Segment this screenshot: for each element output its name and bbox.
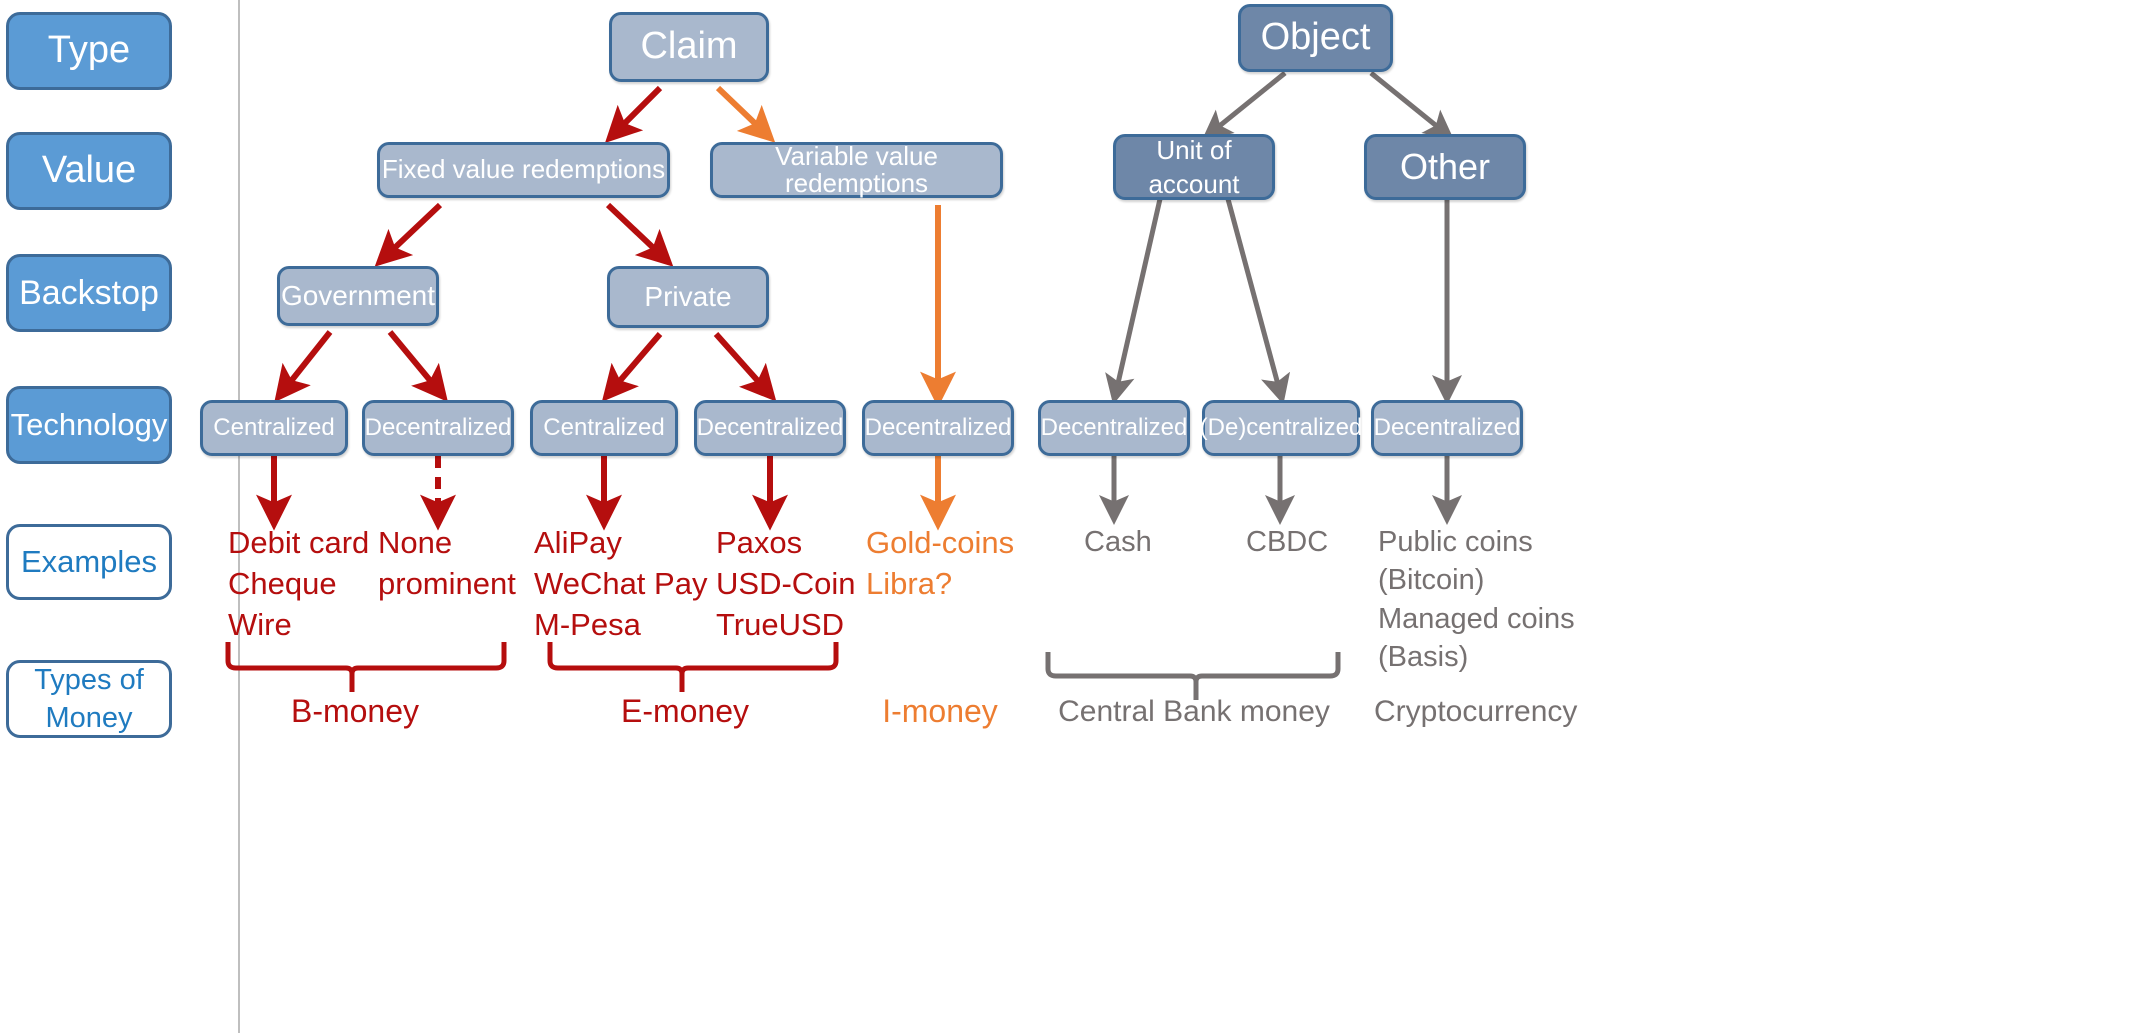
node-object-label: Object (1261, 18, 1371, 58)
row-label-type-text: Type (48, 30, 130, 71)
arrow-object-to-unit-of-account (1212, 73, 1285, 132)
examples-cash: Cash (1084, 523, 1224, 561)
diagram-canvas: Type Value Backstop Technology Examples … (0, 0, 2145, 1033)
node-private[interactable]: Private (607, 266, 769, 328)
row-label-backstop: Backstop (6, 254, 172, 332)
examples-cbdc: CBDC (1246, 523, 1386, 561)
row-label-value-text: Value (42, 150, 136, 191)
examples-b-money-decentralized: None prominent (378, 523, 558, 605)
node-tech-other-decentralized[interactable]: Decentralized (1371, 400, 1523, 456)
examples-e-money-centralized: AliPay WeChat Pay M-Pesa (534, 523, 724, 646)
left-column-divider (238, 0, 240, 1033)
node-variable-value-redemptions[interactable]: Variable value redemptions (710, 142, 1003, 198)
examples-i-money: Gold-coins Libra? (866, 523, 1056, 605)
node-government-label: Government (281, 281, 435, 310)
node-claim[interactable]: Claim (609, 12, 769, 82)
node-claim-label: Claim (640, 27, 737, 67)
node-tech-uoa-de-centralized-label: (De)centralized (1200, 415, 1363, 440)
arrow-uoa-to-decentralized (1116, 199, 1160, 392)
row-label-backstop-text: Backstop (19, 275, 159, 312)
brace-b-money (228, 642, 504, 692)
node-unit-of-account-label: Unit of account (1148, 133, 1239, 202)
money-type-central-bank-money: Central Bank money (1044, 692, 1344, 732)
node-object[interactable]: Object (1238, 4, 1393, 72)
arrow-claim-to-variable-value (718, 88, 764, 132)
row-label-examples-text: Examples (21, 545, 157, 578)
node-tech-private-decentralized-label: Decentralized (697, 415, 844, 440)
row-label-technology: Technology (6, 386, 172, 464)
row-label-examples: Examples (6, 524, 172, 600)
node-other-label: Other (1400, 148, 1490, 186)
money-type-e-money: E-money (556, 690, 814, 732)
node-tech-uoa-decentralized-label: Decentralized (1041, 415, 1188, 440)
row-label-types-of-money: Types of Money (6, 660, 172, 738)
node-tech-private-centralized[interactable]: Centralized (530, 400, 678, 456)
node-private-label: Private (644, 282, 731, 311)
node-tech-government-decentralized-label: Decentralized (365, 415, 512, 440)
row-label-value: Value (6, 132, 172, 210)
arrow-government-to-centralized (284, 332, 330, 390)
node-tech-private-centralized-label: Centralized (543, 415, 664, 440)
node-unit-of-account[interactable]: Unit of account (1113, 134, 1275, 200)
brace-e-money (550, 642, 836, 692)
node-tech-uoa-de-centralized[interactable]: (De)centralized (1202, 400, 1360, 456)
arrow-government-to-decentralized (390, 332, 438, 390)
row-label-type: Type (6, 12, 172, 90)
arrow-fixed-to-government (386, 205, 440, 256)
connector-layer (0, 0, 2145, 1033)
node-tech-other-decentralized-label: Decentralized (1374, 415, 1521, 440)
node-fixed-value-redemptions-label: Fixed value redemptions (382, 156, 665, 183)
node-tech-uoa-decentralized[interactable]: Decentralized (1038, 400, 1190, 456)
node-fixed-value-redemptions[interactable]: Fixed value redemptions (377, 142, 670, 198)
node-variable-value-redemptions-label: Variable value redemptions (713, 143, 1000, 198)
node-tech-variable-decentralized-label: Decentralized (865, 415, 1012, 440)
examples-b-money-centralized: Debit card Cheque Wire (228, 523, 398, 646)
money-type-b-money: B-money (226, 690, 484, 732)
node-tech-government-centralized[interactable]: Centralized (200, 400, 348, 456)
arrow-fixed-to-private (608, 205, 662, 256)
row-label-types-of-money-text: Types of Money (34, 661, 144, 738)
arrow-uoa-to-decentralized-alt (1228, 199, 1280, 392)
arrow-private-to-centralized (612, 334, 660, 390)
arrow-claim-to-fixed-value (616, 88, 660, 132)
arrow-object-to-other (1371, 73, 1444, 132)
row-label-technology-text: Technology (11, 408, 168, 441)
examples-cryptocurrency: Public coins (Bitcoin) Managed coins (Ba… (1378, 523, 1608, 676)
money-type-i-money: I-money (850, 690, 1030, 732)
arrow-private-to-decentralized (716, 334, 766, 390)
node-other[interactable]: Other (1364, 134, 1526, 200)
node-tech-government-centralized-label: Centralized (213, 415, 334, 440)
node-tech-variable-decentralized[interactable]: Decentralized (862, 400, 1014, 456)
node-tech-government-decentralized[interactable]: Decentralized (362, 400, 514, 456)
node-government[interactable]: Government (277, 266, 439, 326)
money-type-cryptocurrency: Cryptocurrency (1374, 692, 1614, 732)
node-tech-private-decentralized[interactable]: Decentralized (694, 400, 846, 456)
